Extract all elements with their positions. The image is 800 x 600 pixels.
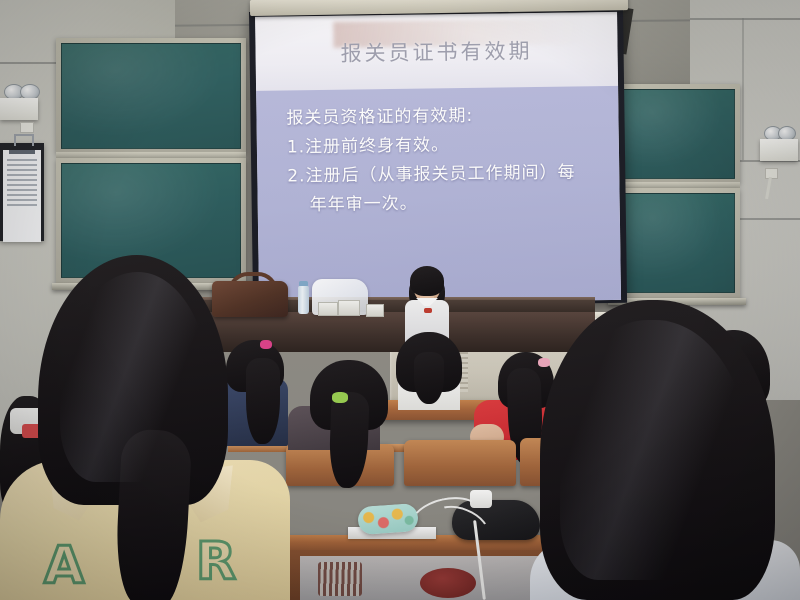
hair-tie-pink (260, 340, 272, 349)
notice-hanger (14, 134, 34, 146)
student-ponytail (414, 352, 444, 404)
small-box (338, 300, 360, 316)
hair-tie-green (332, 392, 348, 403)
notice-line (7, 174, 37, 176)
handbag (212, 281, 288, 317)
wall-seam (742, 18, 744, 160)
slide-body-text: 报关员资格证的有效期: 1.注册前终身有效。 2.注册后（从事报关员工作期间）每… (286, 100, 598, 220)
lecturer-hair (410, 266, 444, 296)
slide-line: 1.注册前终身有效。 (287, 129, 597, 162)
screen-surface: 报关员证书有效期 报关员资格证的有效期: 1.注册前终身有效。 2.注册后（从事… (255, 12, 621, 305)
slide-title: 报关员证书有效期 (255, 34, 617, 69)
small-box (318, 302, 338, 316)
hair-tie-pink (538, 358, 550, 367)
projector-screen: 报关员证书有效期 报关员资格证的有效期: 1.注册前终身有效。 2.注册后（从事… (249, 7, 627, 308)
notice-line (7, 164, 37, 166)
emergency-light-box (0, 98, 38, 120)
notice-line (7, 204, 37, 206)
shirt-letter: A (44, 536, 88, 596)
chalkboard-upper-right (612, 84, 740, 184)
framed-wall-notice (0, 143, 44, 241)
chalkboard-upper-left (56, 38, 246, 154)
shirt-letter: R (196, 532, 240, 592)
slide-line: 2.注册后（从事报关员工作期间）每 (287, 158, 597, 191)
round-object-under-desk (420, 568, 476, 598)
lecturer-badge (424, 308, 432, 313)
chair-back (404, 440, 516, 486)
wall-socket (20, 122, 34, 133)
notice-line (7, 169, 37, 171)
slide-line: 报关员资格证的有效期: (286, 100, 596, 133)
notice-line (7, 199, 37, 201)
notice-paper (3, 150, 41, 242)
notice-line (7, 179, 37, 181)
slide-line: 年年审一次。 (288, 187, 598, 220)
chalkboard-lower-right (612, 188, 740, 298)
notice-line (7, 189, 37, 191)
striped-item-under-desk (318, 562, 362, 596)
notice-line (7, 159, 37, 161)
notice-heading (9, 150, 35, 154)
notice-line (7, 184, 37, 186)
student-ponytail (246, 358, 280, 444)
small-box (366, 304, 384, 317)
water-bottle (298, 286, 309, 314)
notice-line (7, 194, 37, 196)
lecture-hall-photo: 报关员证书有效期 报关员资格证的有效期: 1.注册前终身有效。 2.注册后（从事… (0, 0, 800, 600)
emergency-light-box (760, 139, 798, 161)
pencil-case (357, 503, 419, 535)
wall-seam (690, 18, 800, 20)
